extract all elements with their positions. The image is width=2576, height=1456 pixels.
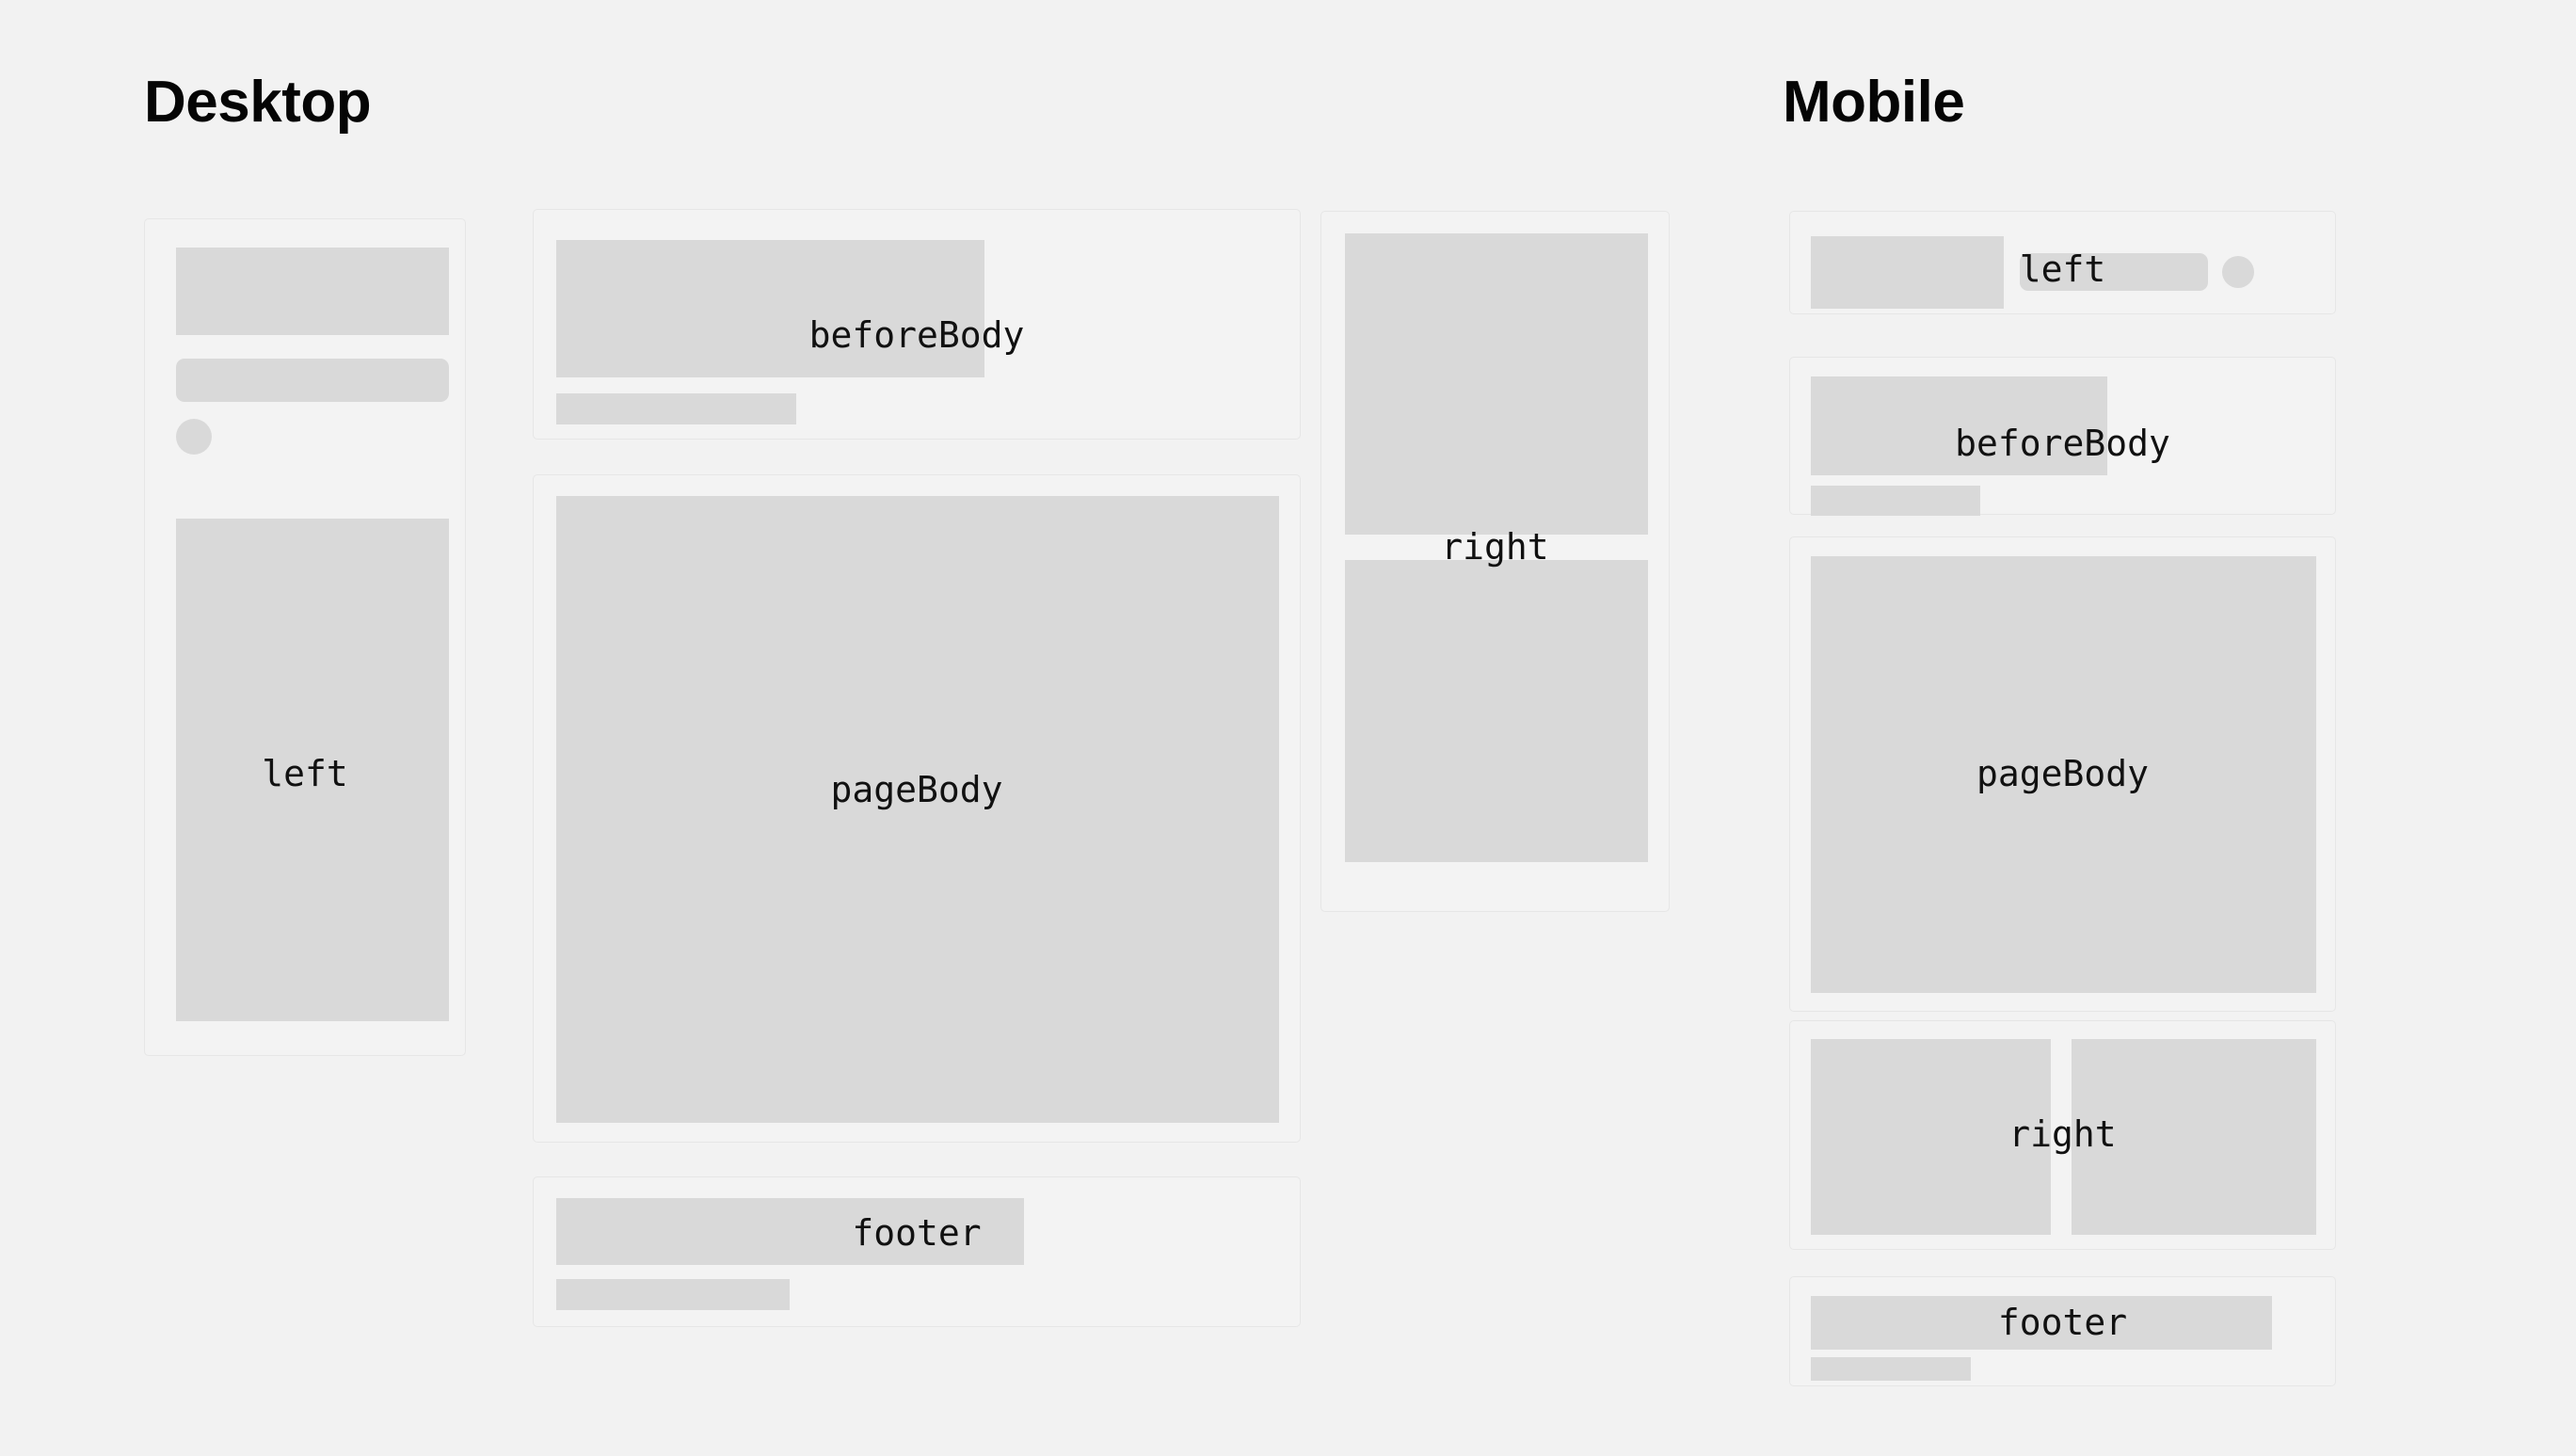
desktop-left-block-2 — [176, 359, 449, 402]
mobile-before-body-block-2 — [1811, 486, 1980, 516]
desktop-right-panel[interactable]: right — [1320, 211, 1670, 912]
mobile-footer-block-2 — [1811, 1357, 1971, 1381]
desktop-before-body-panel[interactable]: beforeBody — [533, 209, 1301, 440]
desktop-footer-block-2 — [556, 1279, 790, 1310]
mobile-right-block-1 — [1811, 1039, 2051, 1235]
mobile-footer-block-1 — [1811, 1296, 2272, 1350]
desktop-footer-block-1 — [556, 1198, 1024, 1265]
mobile-right-panel[interactable]: right — [1789, 1020, 2336, 1250]
desktop-right-block-2 — [1345, 560, 1648, 862]
mobile-left-block-2 — [2020, 253, 2208, 291]
mobile-before-body-panel[interactable]: beforeBody — [1789, 357, 2336, 515]
desktop-left-block-4 — [176, 519, 449, 1021]
mobile-left-panel[interactable]: left — [1789, 211, 2336, 314]
mobile-right-block-2 — [2072, 1039, 2316, 1235]
page-title-mobile: Mobile — [1783, 73, 1964, 132]
desktop-right-block-1 — [1345, 233, 1648, 535]
page-title-desktop: Desktop — [144, 73, 371, 132]
mobile-left-block-1 — [1811, 236, 2004, 309]
desktop-before-body-block-2 — [556, 393, 796, 424]
mobile-left-block-3 — [2222, 256, 2254, 288]
desktop-left-block-1 — [176, 248, 449, 335]
desktop-page-body-panel[interactable]: pageBody — [533, 474, 1301, 1143]
desktop-left-block-3 — [176, 419, 212, 455]
desktop-page-body-block-1 — [556, 496, 1279, 1123]
desktop-footer-panel[interactable]: footer — [533, 1176, 1301, 1327]
mobile-page-body-panel[interactable]: pageBody — [1789, 536, 2336, 1012]
mobile-before-body-block-1 — [1811, 376, 2107, 475]
wireframe-canvas: Desktop left beforeBody pageBody footer … — [0, 0, 2576, 1456]
mobile-footer-panel[interactable]: footer — [1789, 1276, 2336, 1386]
desktop-before-body-block-1 — [556, 240, 984, 377]
desktop-left-panel[interactable]: left — [144, 218, 466, 1056]
mobile-page-body-block-1 — [1811, 556, 2316, 993]
